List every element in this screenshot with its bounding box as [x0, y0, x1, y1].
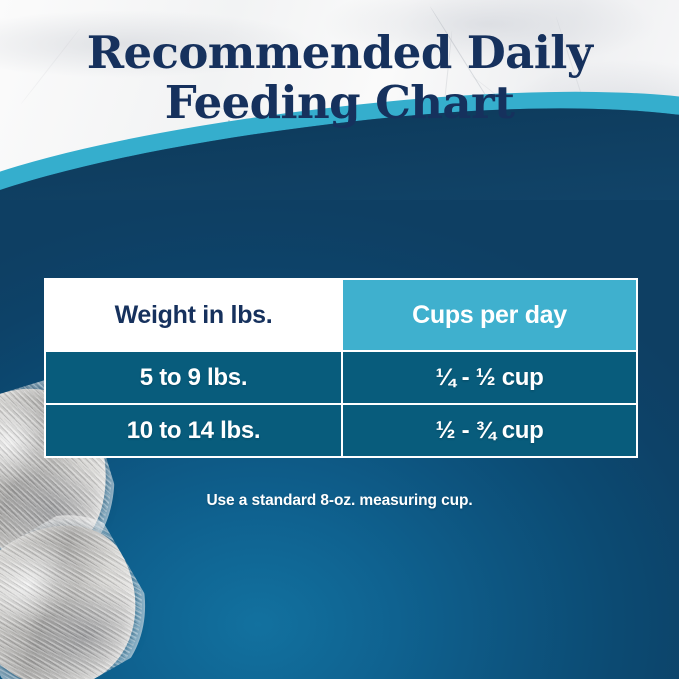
cell-weight-range: 5 to 9 lbs.	[46, 352, 341, 403]
cell-cups-amount: ¼ - ½ cup	[341, 352, 636, 403]
footnote-text: Use a standard 8-oz. measuring cup.	[0, 492, 679, 510]
page-title-line-1: Recommended Daily	[87, 26, 593, 79]
table-row: 10 to 14 lbs. ½ - ¾ cup	[46, 403, 636, 456]
page-title-line-2: Feeding Chart	[0, 78, 679, 128]
column-header-weight: Weight in lbs.	[46, 280, 341, 350]
feeding-chart-infographic: Recommended Daily Feeding Chart Weight i…	[0, 0, 679, 679]
cell-cups-amount: ½ - ¾ cup	[341, 405, 636, 456]
table-header-row: Weight in lbs. Cups per day	[46, 280, 636, 350]
table-row: 5 to 9 lbs. ¼ - ½ cup	[46, 350, 636, 403]
page-title: Recommended Daily Feeding Chart	[0, 28, 679, 128]
cell-weight-range: 10 to 14 lbs.	[46, 405, 341, 456]
column-header-cups: Cups per day	[341, 280, 636, 350]
feeding-chart-table: Weight in lbs. Cups per day 5 to 9 lbs. …	[44, 278, 638, 458]
